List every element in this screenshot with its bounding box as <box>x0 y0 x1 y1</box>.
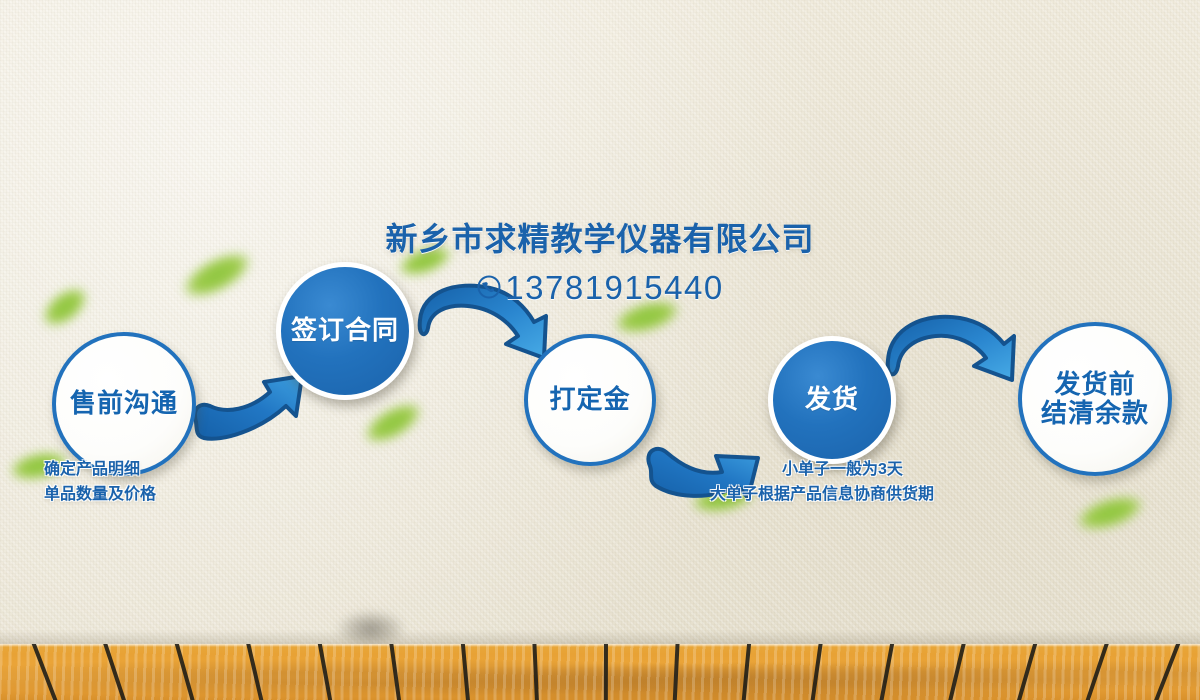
caption-line: 大单子根据产品信息协商供货期 <box>710 483 934 508</box>
connector-arrow-4 <box>880 300 1026 400</box>
floor-edge-highlight <box>0 644 1200 647</box>
step-deposit-label: 打定金 <box>549 385 630 414</box>
step-contract[interactable]: 签订合同 <box>276 262 414 400</box>
step-presale[interactable]: 售前沟通 <box>52 332 196 476</box>
step-shipping-caption: 小单子一般为3天 大单子根据产品信息协商供货期 <box>710 458 934 508</box>
caption-line: 单品数量及价格 <box>44 483 156 508</box>
step-shipping[interactable]: 发货 <box>768 336 896 464</box>
caption-line: 确定产品明细 <box>44 458 156 483</box>
step-shipping-label: 发货 <box>805 385 859 414</box>
leaf-decoration <box>1071 488 1149 539</box>
step-deposit[interactable]: 打定金 <box>524 334 656 466</box>
header-block: 新乡市求精教学仪器有限公司 13781915440 <box>0 214 1200 307</box>
floor-plank <box>604 644 608 700</box>
phone-line: 13781915440 <box>0 269 1200 307</box>
wall-smudge <box>336 610 406 648</box>
phone-number: 13781915440 <box>505 269 723 307</box>
floor-shadow <box>0 630 1200 644</box>
step-presale-caption: 确定产品明细 单品数量及价格 <box>44 458 156 508</box>
wooden-floor <box>0 644 1200 700</box>
phone-circle-icon <box>476 274 502 300</box>
step-contract-label: 签订合同 <box>291 316 399 345</box>
step-settlement-label-line2: 结清余款 <box>1041 399 1149 428</box>
poster-canvas: 新乡市求精教学仪器有限公司 13781915440 售前沟通 确定产品明细 单品… <box>0 0 1200 700</box>
step-settlement-label-line1: 发货前 <box>1054 370 1135 399</box>
caption-line: 小单子一般为3天 <box>710 458 934 483</box>
step-presale-label: 售前沟通 <box>70 389 178 418</box>
leaf-decoration <box>357 394 429 453</box>
company-name: 新乡市求精教学仪器有限公司 <box>0 214 1200 260</box>
step-settlement[interactable]: 发货前 结清余款 <box>1018 322 1172 476</box>
